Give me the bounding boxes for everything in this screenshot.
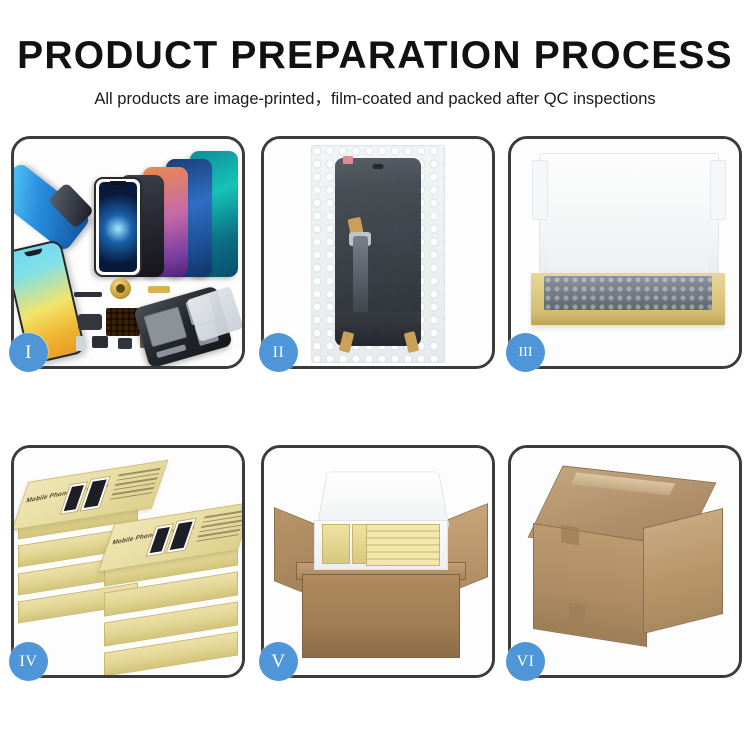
open-inner-box — [531, 153, 725, 333]
step-panel-2: II — [261, 136, 495, 369]
step-badge-6: VI — [506, 642, 545, 681]
flex-cable-part — [74, 292, 102, 297]
gold-contact-part — [148, 286, 170, 293]
carton-tab-lower — [569, 603, 585, 620]
page-title: PRODUCT PREPARATION PROCESS — [0, 0, 750, 75]
connector-part — [78, 314, 102, 330]
step-panel-4: Mobile Phone Spare Parts Mobile Phone Sp… — [11, 445, 245, 678]
packed-boxes-stack — [366, 524, 440, 566]
step-badge-3: III — [506, 333, 545, 372]
step-image-3 — [511, 139, 739, 366]
kraft-tray — [531, 273, 725, 325]
step-image-2 — [264, 139, 492, 366]
step-image-1 — [14, 139, 242, 366]
box-spec-lines — [108, 468, 161, 506]
carton-tab-upper — [561, 525, 579, 546]
carton-body — [302, 574, 460, 658]
step-panel-1: I — [11, 136, 245, 369]
box-stack: Mobile Phone Spare Parts Mobile Phone Sp… — [18, 466, 240, 662]
phone-screen-fan — [70, 149, 238, 277]
header: PRODUCT PREPARATION PROCESS All products… — [0, 0, 750, 108]
small-part-b — [118, 338, 132, 349]
step-badge-2: II — [259, 333, 298, 372]
step-badge-1: I — [9, 333, 48, 372]
infographic-page: PRODUCT PREPARATION PROCESS All products… — [0, 0, 750, 750]
step-image-4: Mobile Phone Spare Parts Mobile Phone Sp… — [14, 448, 242, 675]
bubble-wrapped-contents — [544, 276, 712, 310]
sealed-shipping-carton — [533, 474, 723, 644]
box-spec-lines — [194, 510, 242, 548]
step-image-5 — [264, 448, 492, 675]
bubble-wrap-bag — [311, 145, 445, 363]
foam-lid — [539, 153, 719, 281]
step-panel-3: III — [508, 136, 742, 369]
step-panel-6: VI — [508, 445, 742, 678]
lcd-screen-assembly — [335, 158, 421, 346]
carton-side-face — [643, 508, 723, 634]
phone-screen-front-glass — [94, 177, 142, 277]
speaker-part-icon — [110, 278, 131, 299]
open-shipping-carton — [280, 466, 480, 656]
step-image-6 — [511, 448, 739, 675]
step-badge-4: IV — [9, 642, 48, 681]
small-part-d — [76, 336, 85, 351]
small-part-a — [92, 336, 108, 348]
carton-front-face — [533, 523, 647, 647]
step-panel-5: V — [261, 445, 495, 678]
process-steps-grid: I II — [11, 136, 739, 678]
page-subtitle: All products are image-printed，film-coat… — [0, 75, 750, 108]
step-badge-5: V — [259, 642, 298, 681]
